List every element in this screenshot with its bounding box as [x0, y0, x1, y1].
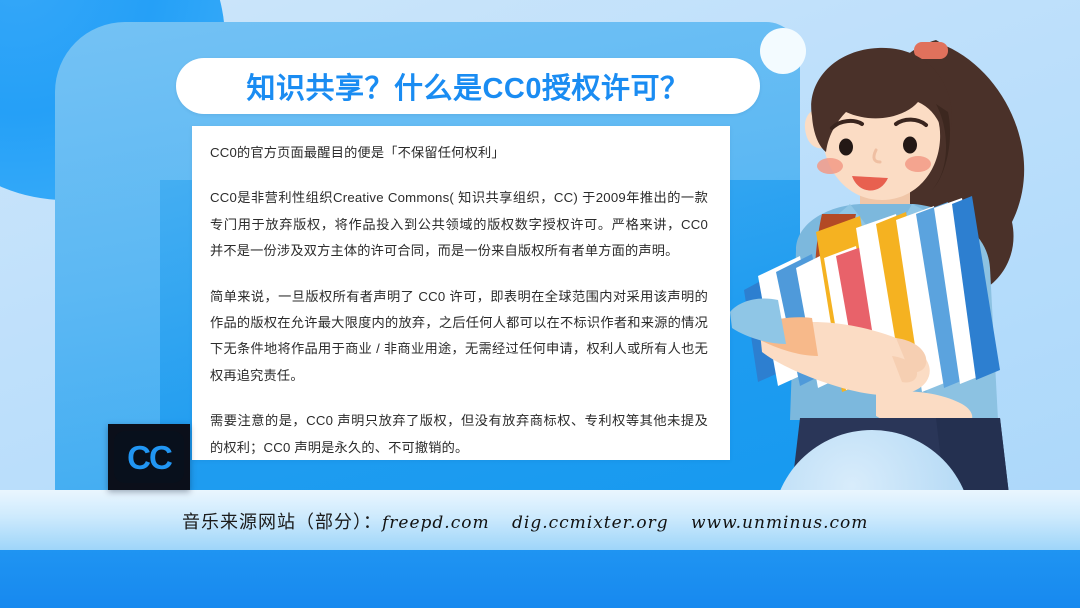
cheek-right: [905, 156, 931, 172]
eye-left: [839, 139, 853, 156]
music-url-1: freepd.com: [382, 513, 490, 533]
cc-logo-label: CC: [127, 441, 171, 474]
cc-logo-inner: CC: [114, 431, 184, 483]
eye-right: [903, 137, 917, 154]
content-paragraph-4: 需要注意的是，CC0 声明只放弃了版权，但没有放弃商标权、专利权等其他未提及的权…: [210, 408, 708, 460]
content-paragraph-3: 简单来说，一旦版权所有者声明了 CC0 许可，即表明在全球范围内对采用该声明的作…: [210, 284, 708, 390]
music-url-3: www.unminus.com: [691, 513, 868, 533]
slide-title-pill: 知识共享？什么是CC0授权许可？: [176, 58, 760, 114]
music-source-line: 音乐来源网站（部分）： freepd.com dig.ccmixter.org …: [182, 508, 868, 534]
sleeve: [730, 299, 786, 345]
cheek-left: [817, 158, 843, 174]
page-title: 知识共享？什么是CC0授权许可？: [246, 65, 689, 107]
hair-tie: [914, 42, 948, 59]
slide-root: 知识共享？什么是CC0授权许可？ CC0的官方页面最醒目的便是「不保留任何权利」…: [0, 0, 1080, 608]
cc-logo: CC: [108, 424, 190, 490]
content-paragraph-1: CC0的官方页面最醒目的便是「不保留任何权利」: [210, 140, 708, 166]
footer-solid-bar: [0, 550, 1080, 608]
music-source-urls: freepd.com dig.ccmixter.org www.unminus.…: [382, 513, 868, 533]
content-paragraph-2: CC0是非营利性组织Creative Commons( 知识共享组织，CC) 于…: [210, 185, 708, 264]
content-card: CC0的官方页面最醒目的便是「不保留任何权利」 CC0是非营利性组织Creati…: [192, 126, 730, 460]
music-url-2: dig.ccmixter.org: [512, 513, 669, 533]
music-source-label: 音乐来源网站（部分）：: [182, 508, 382, 534]
